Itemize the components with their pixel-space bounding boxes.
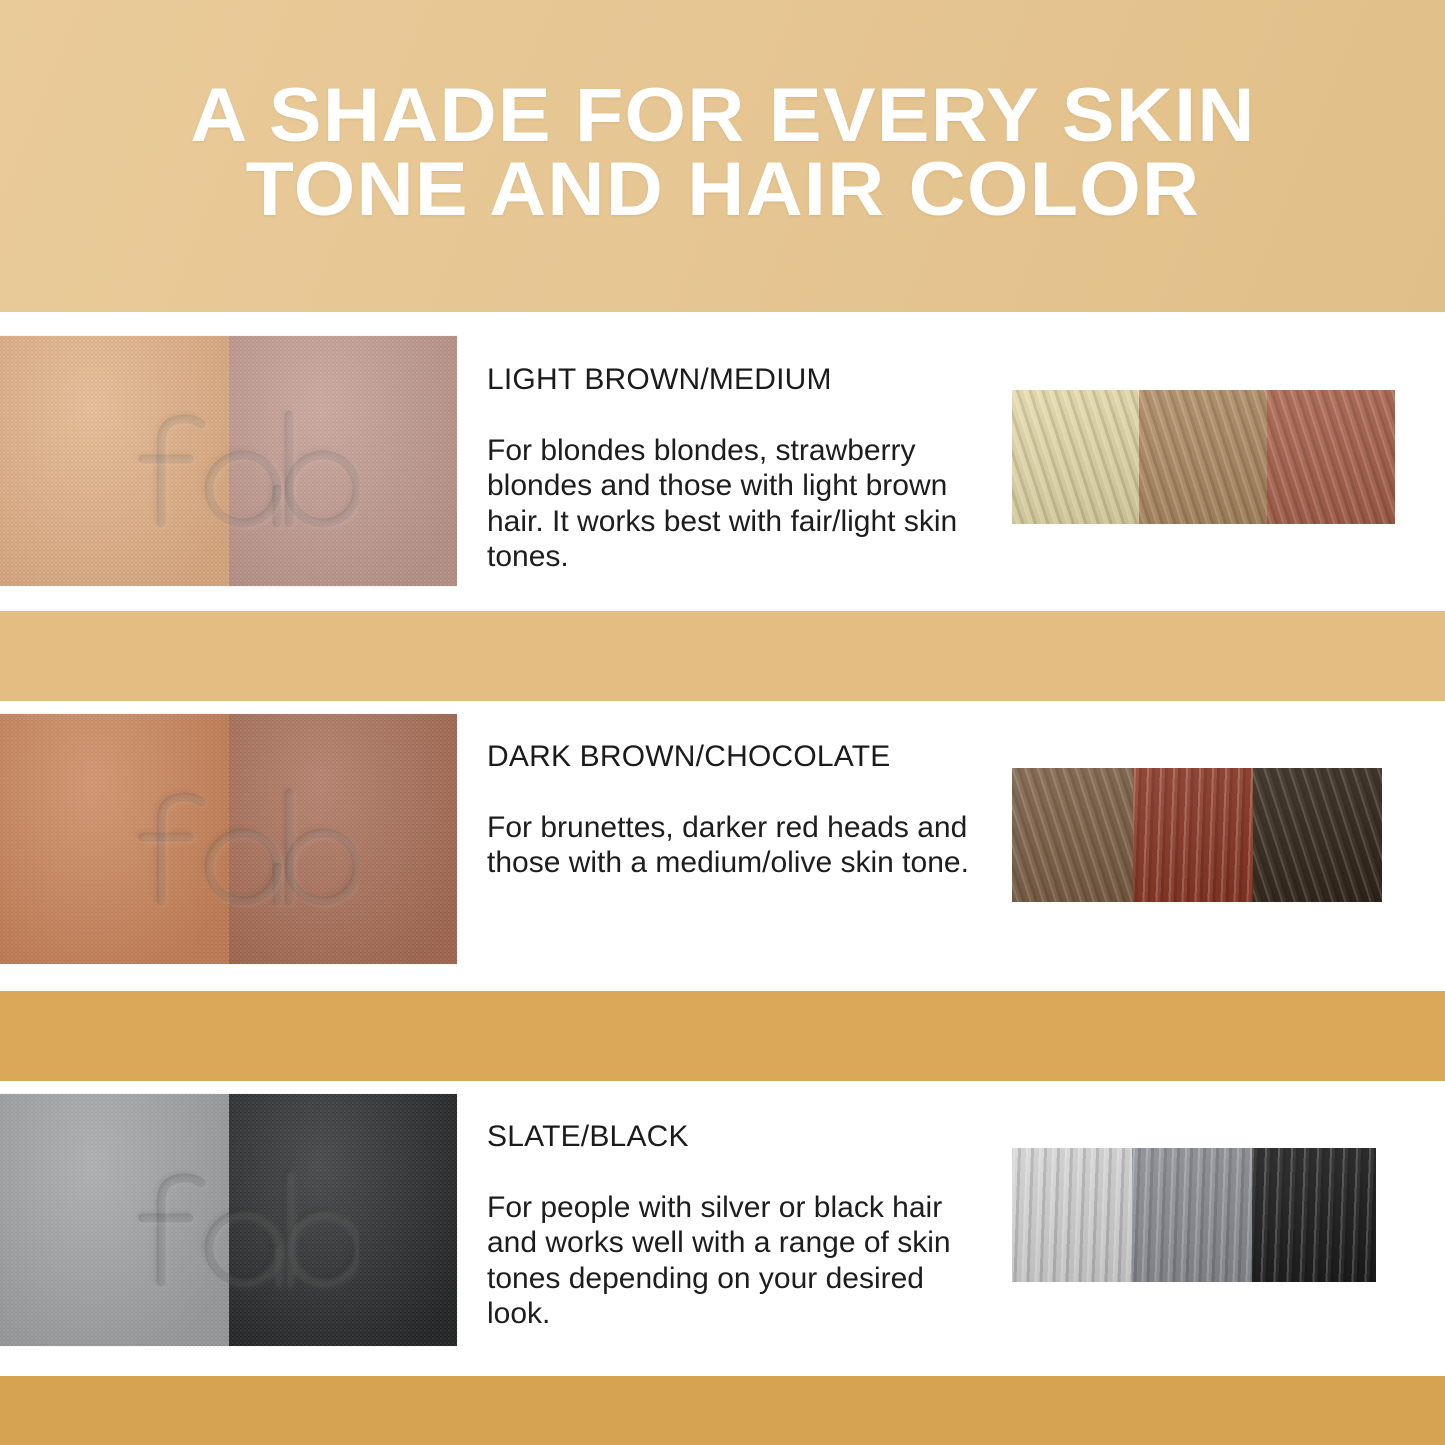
pan-half-left	[0, 336, 229, 586]
hair-swatch-medium-brown	[1012, 768, 1133, 902]
shade-row-dark-brown-chocolate: DARK BROWN/CHOCOLATE For brunettes, dark…	[0, 714, 1445, 964]
shade-description: For brunettes, darker red heads and thos…	[487, 774, 977, 881]
hair-swatch-group	[1012, 390, 1395, 524]
hair-swatch-group	[1012, 768, 1382, 902]
hair-swatch-black	[1252, 1148, 1376, 1282]
shade-description: For blondes blondes, strawberry blondes …	[487, 397, 977, 575]
header-banner: A SHADE FOR EVERY SKIN TONE AND HAIR COL…	[0, 0, 1445, 312]
page-title-line-2: TONE AND HAIR COLOR	[135, 153, 1310, 227]
hair-swatch-golden-blonde	[1139, 390, 1267, 524]
hair-swatch-auburn-red	[1133, 768, 1253, 902]
pan-half-left	[0, 1094, 229, 1346]
shade-name: DARK BROWN/CHOCOLATE	[487, 714, 977, 774]
hair-swatch-copper-brown	[1267, 390, 1395, 524]
hair-swatch-group	[1012, 1148, 1376, 1282]
hair-swatch-silver-white	[1012, 1148, 1132, 1282]
pan-half-right	[229, 1094, 458, 1346]
product-compact-slate-black[interactable]	[0, 1094, 457, 1346]
pan-half-right	[229, 714, 458, 964]
page-title: A SHADE FOR EVERY SKIN TONE AND HAIR COL…	[135, 79, 1310, 226]
shade-description: For people with silver or black hair and…	[487, 1154, 977, 1332]
pan-half-left	[0, 714, 229, 964]
hair-swatch-dark-brown	[1253, 768, 1382, 902]
pan-half-right	[229, 336, 458, 586]
shade-name: SLATE/BLACK	[487, 1094, 977, 1154]
hair-swatch-pale-blonde	[1012, 390, 1139, 524]
hair-swatch-steel-gray	[1132, 1148, 1252, 1282]
footer-band	[0, 1376, 1445, 1445]
shade-row-slate-black: SLATE/BLACK For people with silver or bl…	[0, 1094, 1445, 1346]
shade-copy: SLATE/BLACK For people with silver or bl…	[487, 1094, 977, 1332]
shade-name: LIGHT BROWN/MEDIUM	[487, 336, 977, 397]
product-compact-light-brown-medium[interactable]	[0, 336, 457, 586]
shade-row-light-brown-medium: LIGHT BROWN/MEDIUM For blondes blondes, …	[0, 336, 1445, 586]
divider-band-2	[0, 991, 1445, 1081]
page-title-line-1: A SHADE FOR EVERY SKIN	[135, 79, 1310, 153]
shade-copy: LIGHT BROWN/MEDIUM For blondes blondes, …	[487, 336, 977, 575]
product-compact-dark-brown-chocolate[interactable]	[0, 714, 457, 964]
shade-copy: DARK BROWN/CHOCOLATE For brunettes, dark…	[487, 714, 977, 881]
divider-band-1	[0, 611, 1445, 701]
